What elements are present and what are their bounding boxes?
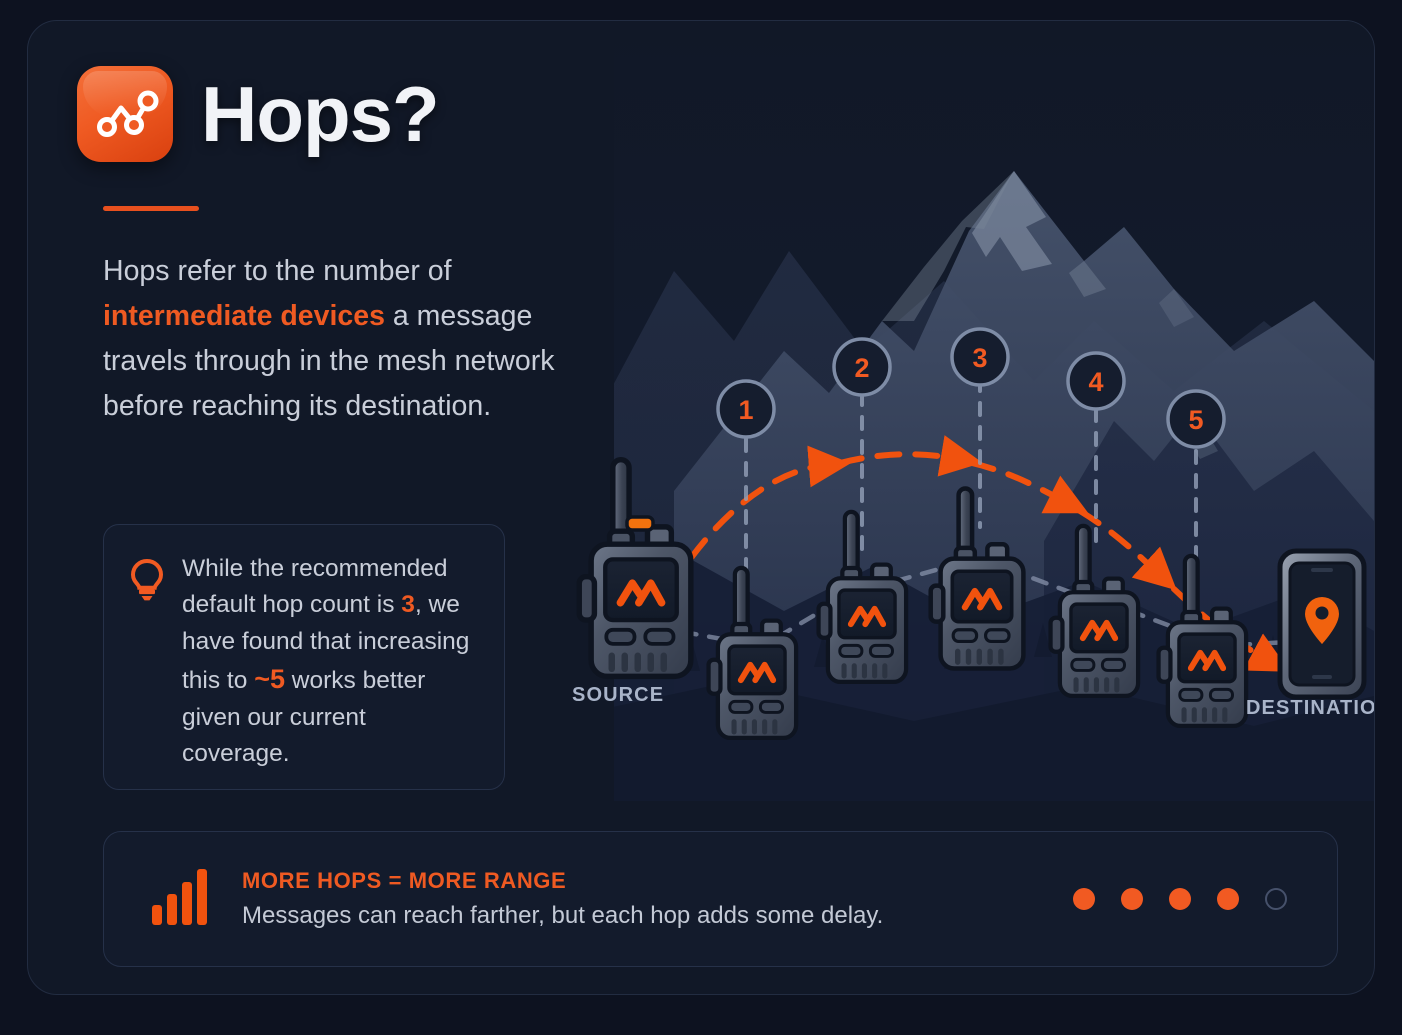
relay-device-5 [1159, 556, 1247, 726]
page-root: Hops? Hops refer to the number of interm… [0, 0, 1402, 1035]
summary-banner: MORE HOPS = MORE RANGE Messages can reac… [103, 831, 1338, 967]
accent-underline [103, 206, 199, 211]
tip-text: While the recommended default hop count … [182, 551, 480, 789]
banner-copy: MORE HOPS = MORE RANGE Messages can reac… [242, 868, 1073, 930]
hop-badge-1-label: 1 [738, 395, 753, 425]
hop-badge-4: 4 [1068, 353, 1124, 409]
hop-badge-3: 3 [952, 329, 1008, 385]
info-card: Hops? Hops refer to the number of interm… [27, 20, 1375, 995]
banner-subtitle: Messages can reach farther, but each hop… [242, 902, 1073, 930]
tip-recommended-hops: ~5 [254, 664, 285, 694]
banner-title: MORE HOPS = MORE RANGE [242, 868, 1073, 894]
destination-label: DESTINATION [1246, 697, 1375, 719]
source-label: SOURCE [572, 684, 664, 706]
mesh-hop-diagram: SOURCE DESTINATION [528, 41, 1375, 761]
intro-part-1: Hops refer to the number of [103, 255, 452, 287]
pagination-dot-4[interactable] [1217, 888, 1239, 910]
pagination-dot-3[interactable] [1169, 888, 1191, 910]
title-row: Hops? [77, 66, 507, 162]
signal-bars-icon [152, 869, 214, 930]
pagination-dot-2[interactable] [1121, 888, 1143, 910]
intro-highlight: intermediate devices [103, 300, 385, 332]
page-title: Hops? [201, 75, 439, 153]
intro-column: Hops? Hops refer to the number of interm… [77, 66, 507, 429]
hop-badge-4-label: 4 [1088, 367, 1103, 397]
pagination-dot-1[interactable] [1073, 888, 1095, 910]
pagination-dot-5[interactable] [1265, 888, 1287, 910]
hop-badge-5-label: 5 [1188, 405, 1203, 435]
relay-device-3 [931, 488, 1024, 668]
hop-badge-1: 1 [718, 381, 774, 437]
tip-card: While the recommended default hop count … [103, 524, 505, 790]
pagination-dots[interactable] [1073, 888, 1303, 910]
relay-device-1 [709, 568, 797, 738]
relay-device-4 [1051, 526, 1139, 696]
tip-default-hops: 3 [401, 591, 415, 618]
source-device [579, 460, 691, 677]
hop-badge-2-label: 2 [854, 353, 869, 383]
hop-badge-5: 5 [1168, 391, 1224, 447]
hop-badge-3-label: 3 [972, 343, 987, 373]
destination-device [1280, 551, 1364, 697]
network-chart-icon [77, 66, 173, 162]
intro-paragraph: Hops refer to the number of intermediate… [103, 249, 573, 429]
hop-badge-2: 2 [834, 339, 890, 395]
lightbulb-icon [130, 551, 182, 789]
